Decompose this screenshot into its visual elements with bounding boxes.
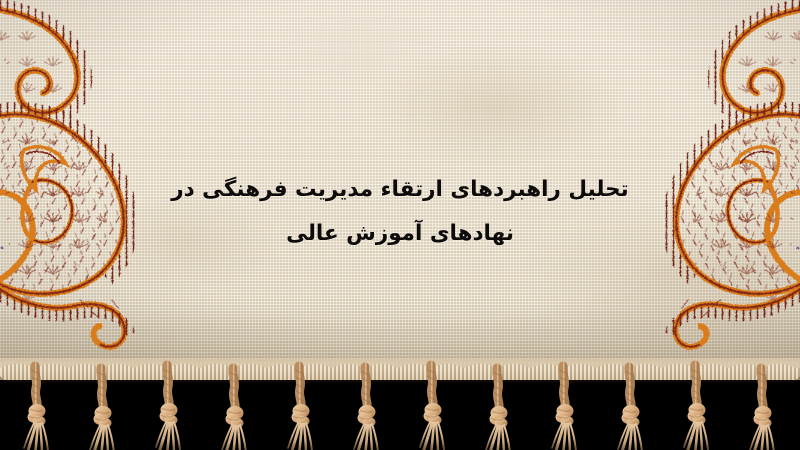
slide-title: تحلیل راهبردهای ارتقاء مدیریت فرهنگی در … xyxy=(0,168,800,256)
title-line-2: نهادهای آموزش عالی xyxy=(0,212,800,256)
slide-canvas: تحلیل راهبردهای ارتقاء مدیریت فرهنگی در … xyxy=(0,0,800,450)
tassel-fringe xyxy=(0,358,800,450)
title-line-1: تحلیل راهبردهای ارتقاء مدیریت فرهنگی در xyxy=(0,168,800,212)
